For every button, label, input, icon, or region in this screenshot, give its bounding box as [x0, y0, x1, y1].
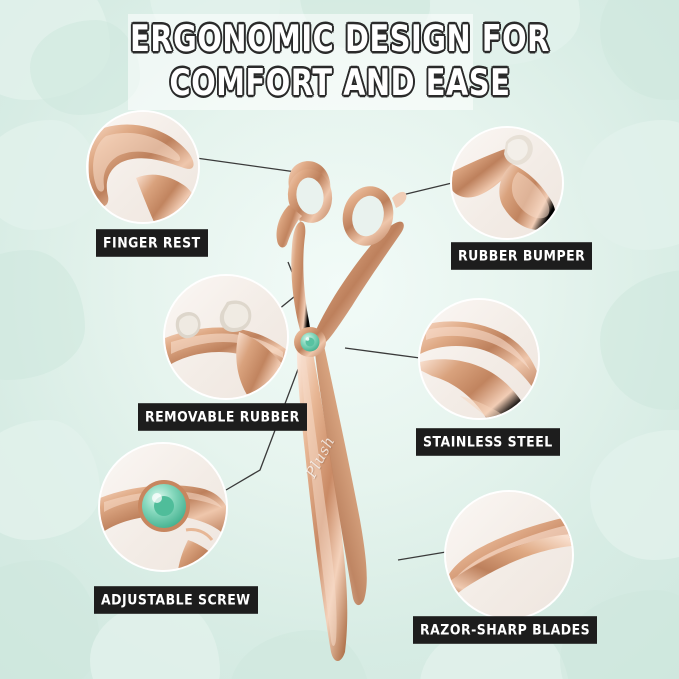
adjustable-screw-detail	[100, 444, 226, 570]
stainless-steel-detail	[420, 300, 538, 418]
infographic-canvas: ERGONOMIC DESIGN FOR COMFORT AND EASE	[0, 0, 679, 679]
scissors-illustration	[0, 0, 679, 679]
label-removable-rubber: REMOVABLE RUBBER	[138, 403, 307, 431]
label-razor-sharp-blades: RAZOR-SHARP BLADES	[413, 616, 597, 644]
razor-sharp-blades-detail	[446, 492, 572, 618]
removable-rubber-detail	[165, 276, 287, 398]
callout-rubber-bumper	[452, 128, 562, 238]
label-rubber-bumper: RUBBER BUMPER	[451, 242, 592, 270]
label-finger-rest: FINGER REST	[96, 229, 208, 257]
finger-rest-detail	[88, 112, 198, 222]
rubber-bumper-detail	[452, 128, 562, 238]
label-stainless-steel: STAINLESS STEEL	[416, 428, 560, 456]
callout-adjustable-screw	[100, 444, 226, 570]
callout-stainless-steel	[420, 300, 538, 418]
callout-removable-rubber	[165, 276, 287, 398]
label-adjustable-screw: ADJUSTABLE SCREW	[94, 586, 258, 614]
callout-finger-rest	[88, 112, 198, 222]
callout-razor-sharp-blades	[446, 492, 572, 618]
